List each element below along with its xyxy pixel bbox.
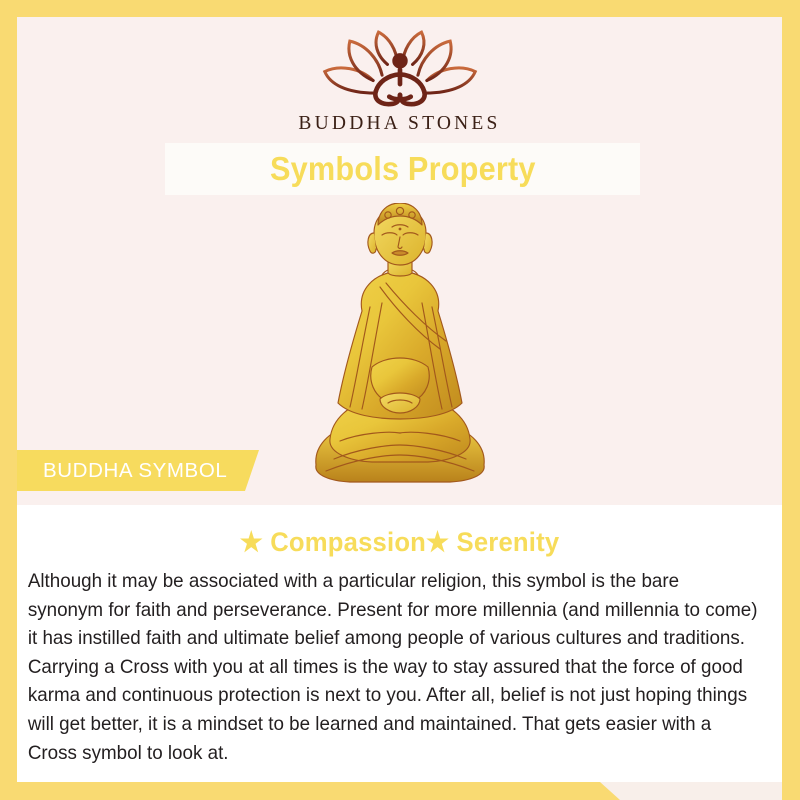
frame-right-band [782,0,800,800]
golden-seated-buddha-statue-icon [300,203,500,493]
poster-canvas: BUDDHA STONES Symbols Property [17,17,782,782]
poster-root: BUDDHA STONES Symbols Property [0,0,800,800]
frame-left-band [0,0,17,800]
page-title: Symbols Property [270,150,536,188]
frame-bottom-yellow-band [0,782,620,800]
brand-name: BUDDHA STONES [298,113,500,135]
properties-heading: ★ Compassion★ Serenity [36,505,763,558]
symbol-category-tag: BUDDHA SYMBOL [17,450,259,491]
lotus-meditation-icon [310,25,490,111]
brand-logo: BUDDHA STONES [17,25,782,135]
description-paragraph: Although it may be associated with a par… [17,558,771,768]
frame-top-band [0,0,800,17]
description-panel: ★ Compassion★ Serenity Although it may b… [17,505,782,782]
symbol-category-label: BUDDHA SYMBOL [43,459,227,483]
page-title-band: Symbols Property [165,143,640,195]
hero-image [17,203,782,493]
